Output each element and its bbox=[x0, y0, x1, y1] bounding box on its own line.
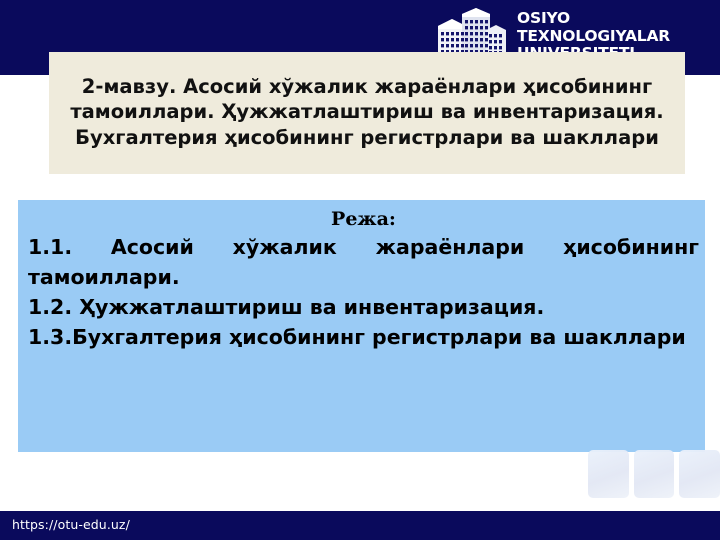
decorative-squares bbox=[588, 450, 720, 502]
plan-heading: Режа: bbox=[28, 208, 699, 231]
decorative-square bbox=[679, 450, 720, 498]
plan-item-1: 1.1. Асосий хўжалик жараёнлари ҳисобинин… bbox=[28, 232, 699, 292]
page-title: 2-мавзу. Асосий хўжалик жараёнлари ҳисоб… bbox=[59, 74, 675, 151]
decorative-square bbox=[588, 450, 629, 498]
slide-canvas: OSIYO TEXNOLOGIYALAR UNIVERSITETI 2-мавз… bbox=[0, 0, 720, 540]
university-building-icon bbox=[432, 4, 510, 56]
footer-url[interactable]: https://otu-edu.uz/ bbox=[12, 515, 130, 535]
plan-item-2: 1.2. Ҳужжатлаштириш ва инвентаризация. bbox=[28, 292, 699, 322]
decorative-square bbox=[634, 450, 675, 498]
slide-title-box: 2-мавзу. Асосий хўжалик жараёнлари ҳисоб… bbox=[49, 52, 685, 174]
plan-content-box: Режа: 1.1. Асосий хўжалик жараёнлари ҳис… bbox=[18, 200, 705, 452]
plan-item-3: 1.3.Бухгалтерия ҳисобининг регистрлари в… bbox=[28, 322, 699, 352]
